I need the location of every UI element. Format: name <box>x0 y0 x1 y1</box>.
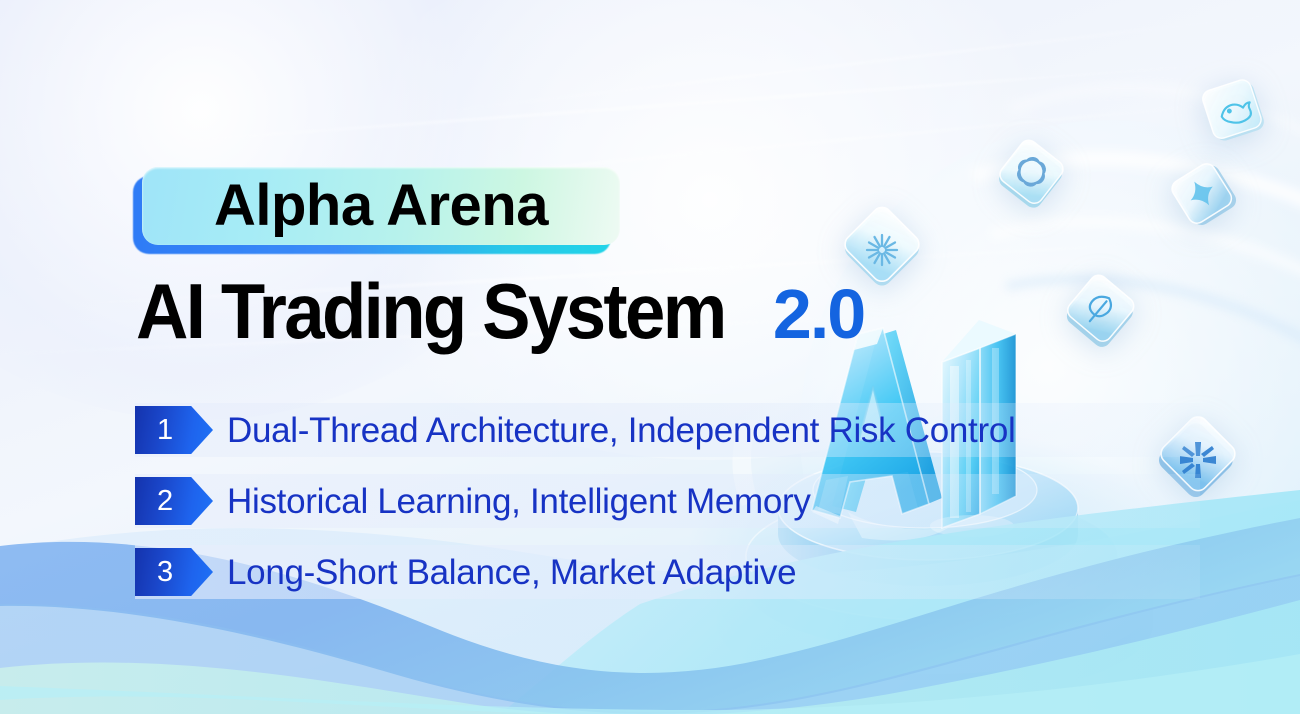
feature-number-badge: 2 <box>135 477 213 525</box>
badge-label: Alpha Arena <box>214 177 548 235</box>
list-item: 1 Dual-Thread Architecture, Independent … <box>135 406 1015 454</box>
feature-number-badge: 1 <box>135 406 213 454</box>
banner-content: Alpha Arena AI Trading System 2.0 1 Dual… <box>0 0 1300 714</box>
feature-text: Dual-Thread Architecture, Independent Ri… <box>227 413 1015 448</box>
feature-text: Historical Learning, Intelligent Memory <box>227 484 811 519</box>
list-item: 2 Historical Learning, Intelligent Memor… <box>135 477 1015 525</box>
badge-surface: Alpha Arena <box>142 167 620 245</box>
feature-text: Long-Short Balance, Market Adaptive <box>227 555 796 590</box>
headline-main: AI Trading System <box>136 272 725 350</box>
feature-list: 1 Dual-Thread Architecture, Independent … <box>135 406 1015 619</box>
feature-number: 1 <box>157 416 173 445</box>
page-title: AI Trading System 2.0 <box>136 272 864 350</box>
feature-number: 2 <box>157 487 173 516</box>
headline-version: 2.0 <box>773 279 864 349</box>
feature-number-badge: 3 <box>135 548 213 596</box>
feature-number: 3 <box>157 558 173 587</box>
alpha-arena-badge: Alpha Arena <box>133 167 611 245</box>
list-item: 3 Long-Short Balance, Market Adaptive <box>135 548 1015 596</box>
promo-banner: Alpha Arena AI Trading System 2.0 1 Dual… <box>0 0 1300 714</box>
